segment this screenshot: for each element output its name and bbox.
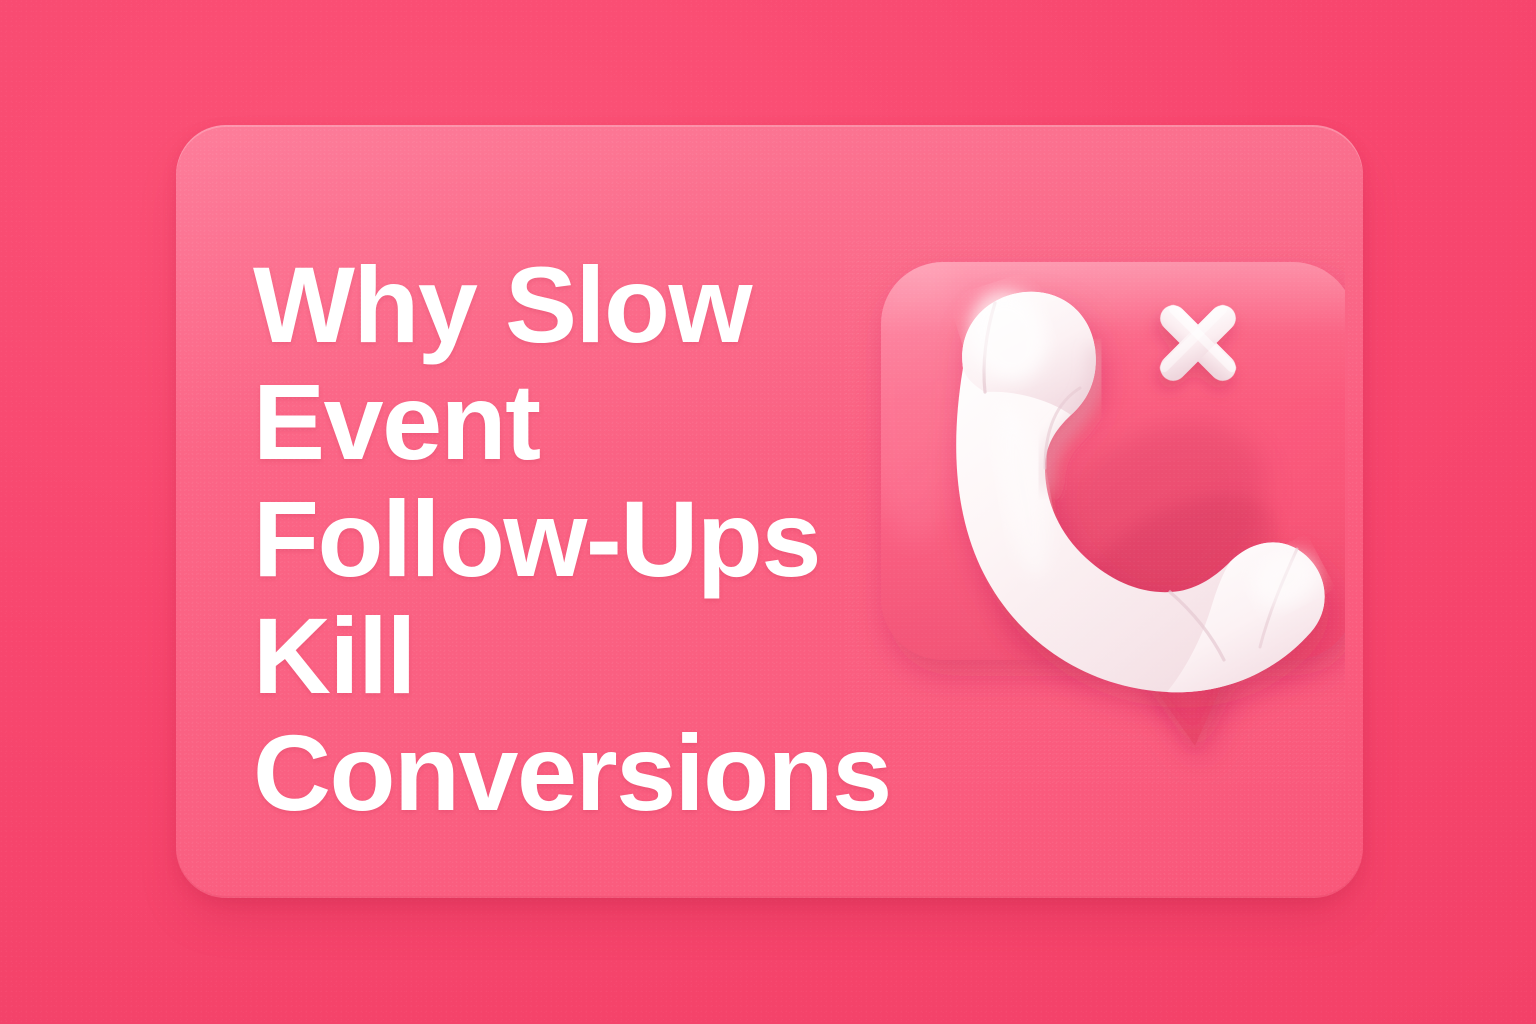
missed-call-illustration <box>845 240 1345 785</box>
hero-banner: Why Slow Event Follow-Ups Kill Conversio… <box>0 0 1536 1024</box>
